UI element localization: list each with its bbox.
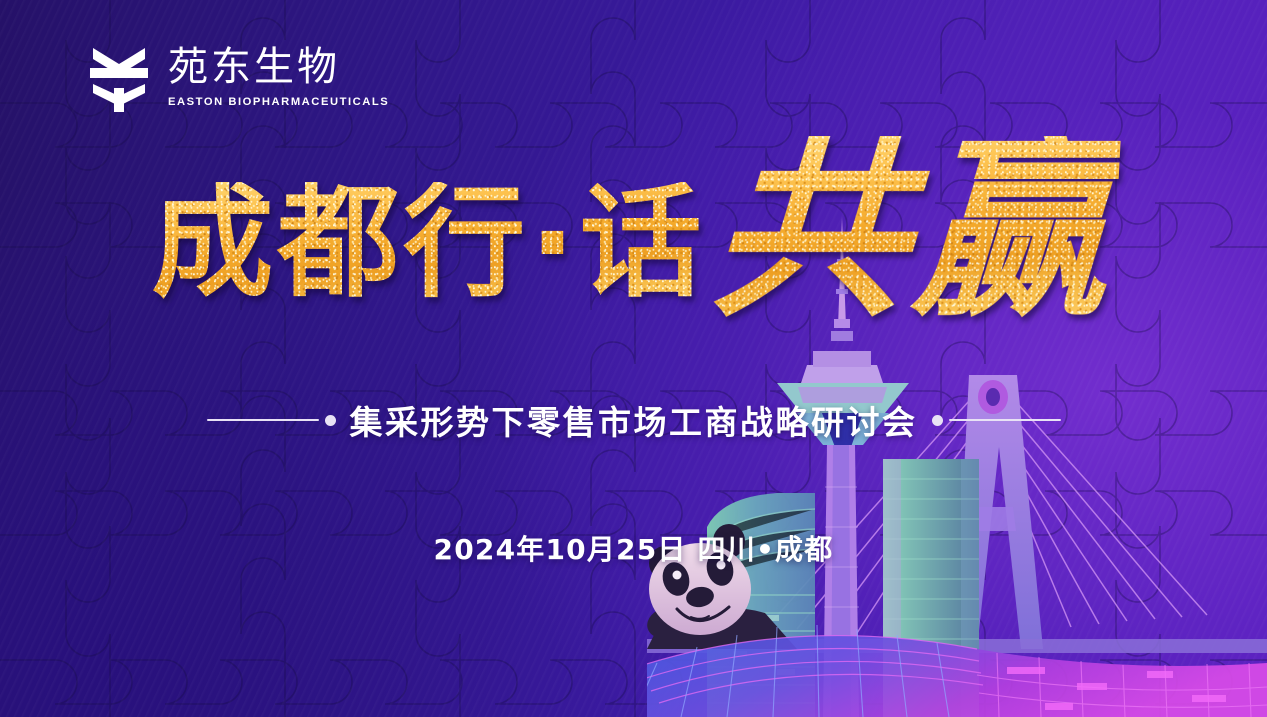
subtitle-left-rule	[207, 415, 336, 426]
skyscraper-right	[883, 459, 979, 717]
subtitle-text: 集采形势下零售市场工商战略研讨会	[350, 396, 918, 444]
page-title: 成都行·话 共赢	[0, 128, 1267, 358]
headline-part-two: 共赢	[707, 136, 1121, 322]
rule-dot-left	[325, 415, 336, 426]
rule-line-left	[207, 419, 319, 422]
company-name-cn: 苑东生物	[168, 46, 389, 89]
headline-part-one: 成都行·话	[151, 182, 705, 304]
company-name-en: EASTON BIOPHARMACEUTICALS	[168, 96, 389, 108]
global-center-dome	[647, 625, 1267, 717]
rule-dot-right	[932, 415, 943, 426]
event-datetime-location: 2024年10月25日 四川•成都	[0, 528, 1267, 568]
rule-line-right	[949, 419, 1061, 422]
easton-tree-mark-icon	[88, 44, 150, 112]
event-banner: 苑东生物 EASTON BIOPHARMACEUTICALS 成都行·话 共赢 …	[0, 0, 1267, 717]
subtitle-right-rule	[932, 415, 1061, 426]
subtitle-row: 集采形势下零售市场工商战略研讨会	[0, 396, 1267, 444]
company-logo: 苑东生物 EASTON BIOPHARMACEUTICALS	[88, 44, 389, 112]
curved-skyscraper	[707, 493, 815, 717]
